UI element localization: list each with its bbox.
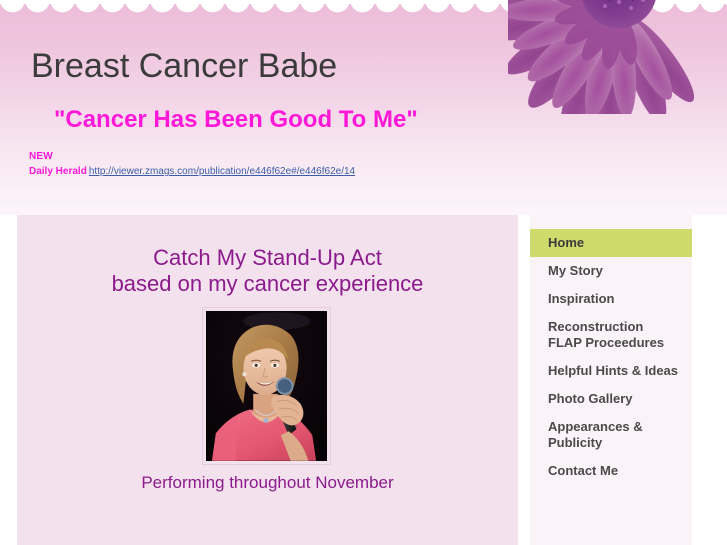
photo-frame: [202, 307, 331, 465]
sidebar-item-my-story[interactable]: My Story: [530, 257, 692, 285]
publication-name: Daily Herald: [29, 166, 87, 177]
sidebar-item-contact-me[interactable]: Contact Me: [530, 457, 692, 485]
sidebar-item-label: Reconstruction: [548, 319, 643, 334]
sidebar-item-label: Contact Me: [548, 463, 618, 478]
sidebar-nav: Home My Story Inspiration Reconstruction…: [530, 215, 692, 545]
new-badge: NEW: [29, 151, 53, 162]
sidebar-item-home[interactable]: Home: [530, 229, 692, 257]
promo-footer-text: Performing throughout November: [17, 473, 518, 493]
sidebar-item-label: Home: [548, 235, 584, 250]
sidebar-item-label: Photo Gallery: [548, 391, 633, 406]
sidebar-item-label: Inspiration: [548, 291, 614, 306]
woman-singing-with-microphone-photo: [206, 311, 327, 461]
page-title: Breast Cancer Babe: [31, 47, 337, 86]
sidebar-item-label-line2: FLAP Proceedures: [548, 335, 692, 351]
sidebar-item-label: My Story: [548, 263, 603, 278]
sidebar-item-label: Appearances &: [548, 419, 643, 434]
sidebar-item-reconstruction-flap-proceedures[interactable]: Reconstruction FLAP Proceedures: [530, 313, 692, 357]
site-header: Breast Cancer Babe "Cancer Has Been Good…: [0, 0, 727, 215]
sidebar-item-appearances-publicity[interactable]: Appearances & Publicity: [530, 413, 692, 457]
sidebar-item-label: Helpful Hints & Ideas: [548, 363, 678, 378]
sidebar-item-label-line2: Publicity: [548, 435, 692, 451]
promo-heading: Catch My Stand-Up Act based on my cancer…: [17, 245, 518, 297]
sidebar-item-photo-gallery[interactable]: Photo Gallery: [530, 385, 692, 413]
publication-link[interactable]: http://viewer.zmags.com/publication/e446…: [89, 166, 355, 177]
sidebar-item-helpful-hints-ideas[interactable]: Helpful Hints & Ideas: [530, 357, 692, 385]
promo-heading-line-2: based on my cancer experience: [17, 271, 518, 297]
site-tagline: "Cancer Has Been Good To Me": [54, 106, 418, 134]
scalloped-edge-icon: [0, 0, 727, 18]
page-root: Breast Cancer Babe "Cancer Has Been Good…: [0, 0, 727, 545]
promo-heading-line-1: Catch My Stand-Up Act: [153, 245, 382, 270]
sidebar-item-inspiration[interactable]: Inspiration: [530, 285, 692, 313]
publication-line: Daily Heraldhttp://viewer.zmags.com/publ…: [29, 166, 355, 177]
main-content-panel: Catch My Stand-Up Act based on my cancer…: [17, 215, 518, 545]
